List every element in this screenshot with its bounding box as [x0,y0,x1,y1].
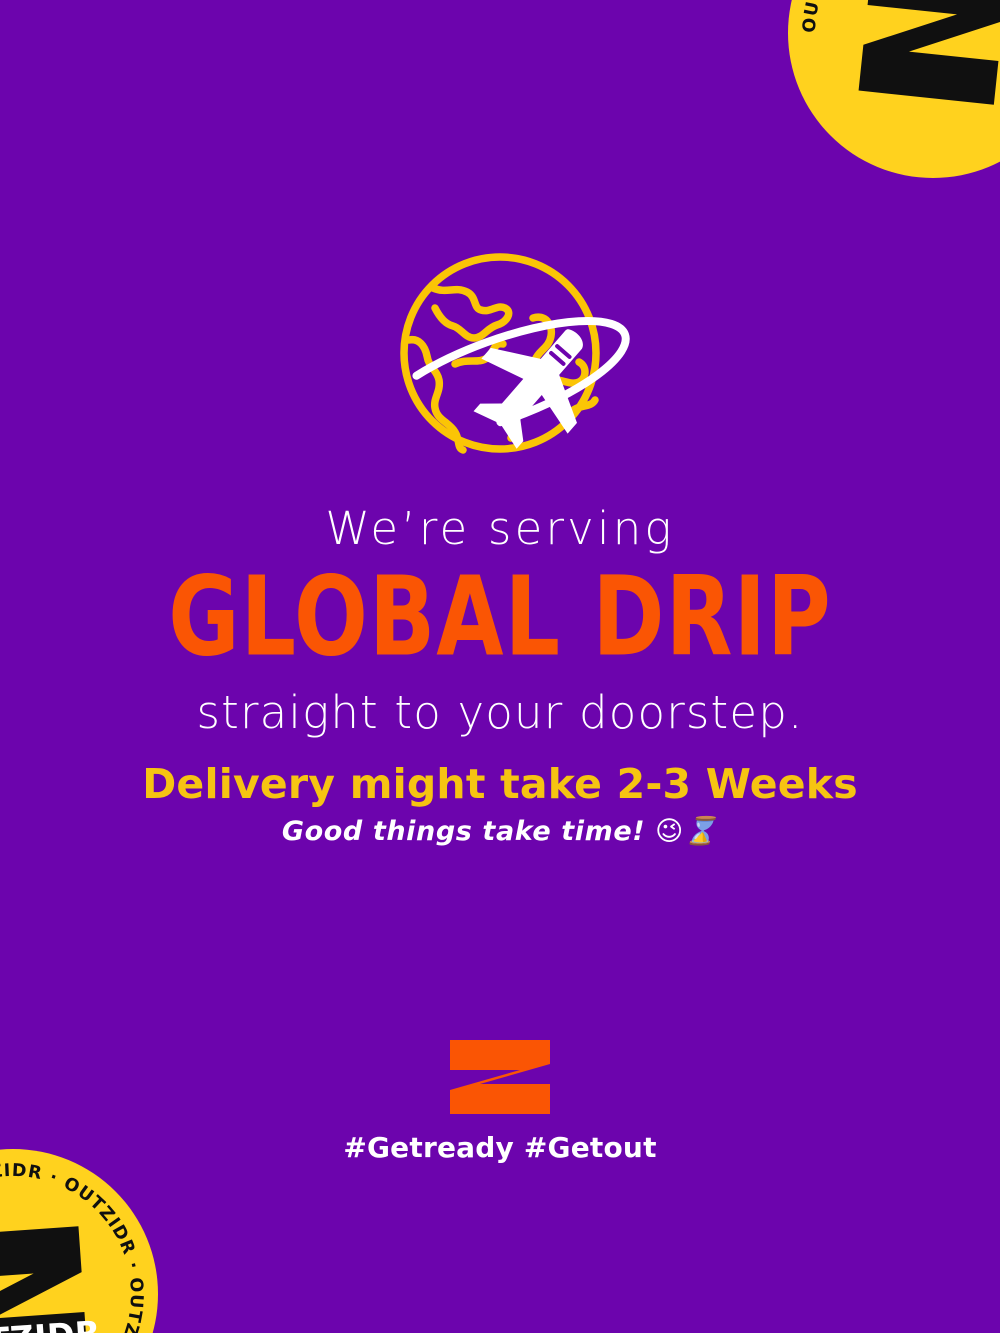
badge-core-bottom-left: OUTZIDR [0,1219,97,1333]
badge-core-top-right [849,0,1000,108]
brand-z-logo [446,1038,554,1116]
badge-wordmark: OUTZIDR [0,1313,102,1333]
eyebrow-text: We’re serving [0,505,1000,554]
footer-block: #Getready #Getout [0,1038,1000,1164]
tagline-text: Good things take time! 😉⌛ [0,812,1000,851]
promo-poster: OUTZIDR · OUTZIDR · OUTZIDR · OUTZIDR · … [0,0,1000,1333]
headline-block: We’re serving GLOBAL DRIP straight to yo… [0,505,1000,738]
subline-text: straight to your doorstep. [0,689,1000,738]
badge-top-right: OUTZIDR · OUTZIDR · OUTZIDR · OUTZIDR · [788,0,1000,178]
hashtags-text: #Getready #Getout [343,1131,656,1164]
globe-with-airplane-icon [0,252,1000,478]
badge-bottom-left: OUTZIDR · OUTZIDR · OUTZIDR · OUTZIDR · … [0,1149,158,1333]
page-title: GLOBAL DRIP [0,562,1000,674]
delivery-notice: Delivery might take 2-3 Weeks [0,762,1000,807]
